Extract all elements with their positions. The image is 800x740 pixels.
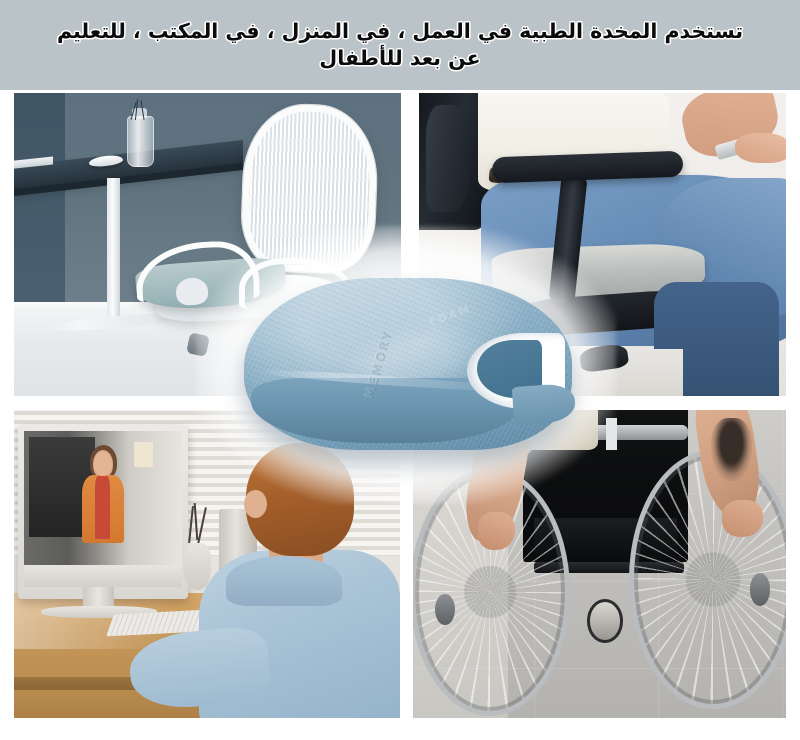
wall-corner xyxy=(14,93,65,313)
header-band: تستخدم المخدة الطبية في العمل ، في المنز… xyxy=(0,0,800,90)
wheelchair-scene xyxy=(410,406,786,718)
office-desk-chair-scene xyxy=(14,93,409,398)
teacher-red-top xyxy=(95,476,110,538)
user-hand-left xyxy=(478,512,516,549)
user-hand-right xyxy=(722,500,763,537)
page-title: تستخدم المخدة الطبية في العمل ، في المنز… xyxy=(49,18,751,72)
product-banner: تستخدم المخدة الطبية في العمل ، في المنز… xyxy=(0,0,800,740)
glass-vase xyxy=(127,116,155,167)
photo-cell-office-desk-chair xyxy=(14,93,409,398)
chair-mesh-back xyxy=(240,103,378,274)
child-ear xyxy=(244,490,267,518)
backrest-strap xyxy=(606,418,617,449)
hoodie-hood xyxy=(226,556,342,606)
photo-cell-child-remote-learning xyxy=(14,406,400,718)
photo-cell-wheelchair-user xyxy=(410,406,786,718)
chair-back-highlight xyxy=(426,105,470,212)
wheel-hub xyxy=(435,594,455,625)
front-caster-wheel xyxy=(587,599,623,642)
teacher-face xyxy=(94,452,112,475)
desk-leg xyxy=(107,178,120,321)
hand xyxy=(735,133,786,164)
arm-tattoo xyxy=(711,418,752,480)
wheel-hub xyxy=(750,573,771,605)
wall-note xyxy=(134,442,153,467)
photo-grid xyxy=(0,88,800,740)
child-remote-learning-scene xyxy=(14,406,400,718)
imac-chin-bezel xyxy=(24,565,182,587)
man-sitting-scene xyxy=(419,93,786,398)
photo-cell-man-sitting-on-cushion xyxy=(419,93,786,398)
